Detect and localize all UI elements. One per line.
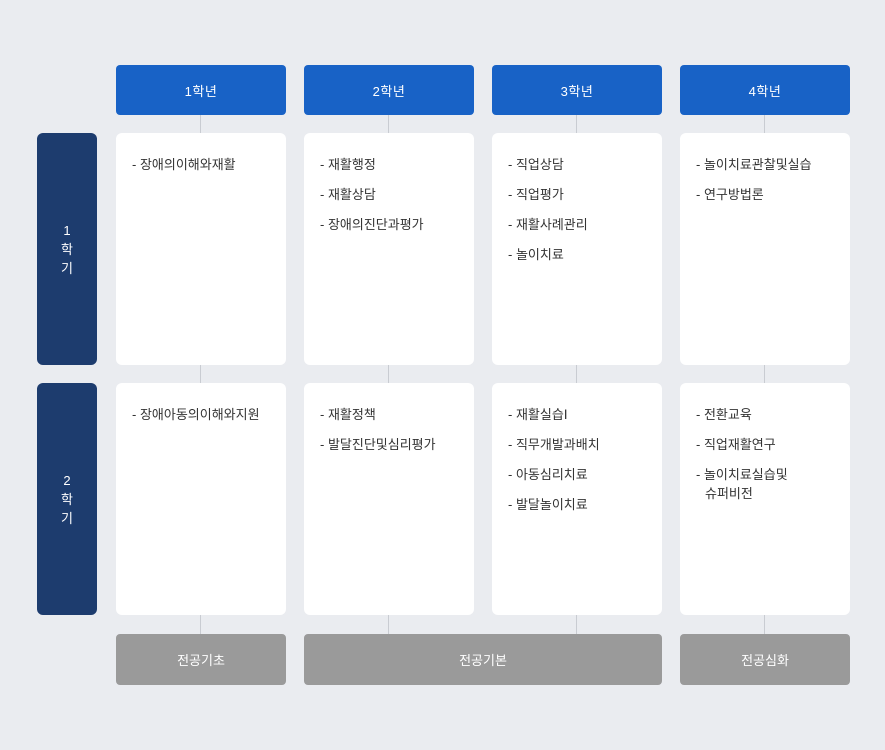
course-item: - 발달진단및심리평가 <box>320 435 458 454</box>
course-card-year3-sem1: - 직업상담 - 직업평가 - 재활사례관리 - 놀이치료 <box>492 133 662 365</box>
course-item: - 재활사례관리 <box>508 215 646 234</box>
course-item: - 직업재활연구 <box>696 435 834 454</box>
curriculum-diagram: 1학년 2학년 3학년 4학년 1 학 기 2 학 기 - 장애의이해와재활 -… <box>0 0 885 750</box>
course-item: - 전환교육 <box>696 405 834 424</box>
course-item: - 장애의이해와재활 <box>132 155 270 174</box>
connector-year2-bottom <box>388 615 389 634</box>
connector-year2-mid <box>388 365 389 383</box>
course-item: - 놀이치료 <box>508 245 646 264</box>
course-item: - 직무개발과배치 <box>508 435 646 454</box>
connector-year3-top <box>576 115 577 133</box>
course-item: - 직업평가 <box>508 185 646 204</box>
course-item: - 발달놀이치료 <box>508 495 646 514</box>
footer-bar-major-basic: 전공기초 <box>116 634 286 685</box>
footer-bar-major-core: 전공기본 <box>304 634 662 685</box>
connector-year4-bottom <box>764 615 765 634</box>
semester-label-2-line2: 학 <box>61 490 73 509</box>
year-header-4-label: 4학년 <box>749 81 782 100</box>
year-header-3[interactable]: 3학년 <box>492 65 662 115</box>
course-item: - 재활행정 <box>320 155 458 174</box>
connector-year1-top <box>200 115 201 133</box>
year-header-4[interactable]: 4학년 <box>680 65 850 115</box>
course-card-year1-sem1: - 장애의이해와재활 <box>116 133 286 365</box>
semester-label-2-line3: 기 <box>61 509 73 528</box>
course-card-year4-sem1: - 놀이치료관찰및실습 - 연구방법론 <box>680 133 850 365</box>
course-card-year1-sem2: - 장애아동의이해와지원 <box>116 383 286 615</box>
semester-label-2: 2 학 기 <box>37 383 97 615</box>
year-header-1[interactable]: 1학년 <box>116 65 286 115</box>
course-item: - 장애아동의이해와지원 <box>132 405 270 424</box>
course-item: - 놀이치료실습및 슈퍼비전 <box>696 465 834 503</box>
year-header-3-label: 3학년 <box>561 81 594 100</box>
connector-year2-top <box>388 115 389 133</box>
connector-year3-bottom <box>576 615 577 634</box>
course-item: - 직업상담 <box>508 155 646 174</box>
semester-label-1-line1: 1 <box>63 221 70 240</box>
connector-year1-bottom <box>200 615 201 634</box>
course-item: - 연구방법론 <box>696 185 834 204</box>
footer-bar-major-advanced: 전공심화 <box>680 634 850 685</box>
connector-year4-top <box>764 115 765 133</box>
course-item: - 재활실습Ⅰ <box>508 405 646 424</box>
footer-bar-2-label: 전공기본 <box>459 650 507 669</box>
course-card-year4-sem2: - 전환교육 - 직업재활연구 - 놀이치료실습및 슈퍼비전 <box>680 383 850 615</box>
course-item: - 놀이치료관찰및실습 <box>696 155 834 174</box>
semester-label-1-line2: 학 <box>61 240 73 259</box>
footer-bar-1-label: 전공기초 <box>177 650 225 669</box>
connector-year1-mid <box>200 365 201 383</box>
connector-year3-mid <box>576 365 577 383</box>
course-card-year2-sem1: - 재활행정 - 재활상담 - 장애의진단과평가 <box>304 133 474 365</box>
year-header-1-label: 1학년 <box>185 81 218 100</box>
semester-label-1: 1 학 기 <box>37 133 97 365</box>
year-header-2[interactable]: 2학년 <box>304 65 474 115</box>
course-item: - 아동심리치료 <box>508 465 646 484</box>
year-header-2-label: 2학년 <box>373 81 406 100</box>
course-item: - 장애의진단과평가 <box>320 215 458 234</box>
course-card-year2-sem2: - 재활정책 - 발달진단및심리평가 <box>304 383 474 615</box>
connector-year4-mid <box>764 365 765 383</box>
course-card-year3-sem2: - 재활실습Ⅰ - 직무개발과배치 - 아동심리치료 - 발달놀이치료 <box>492 383 662 615</box>
semester-label-1-line3: 기 <box>61 259 73 278</box>
footer-bar-3-label: 전공심화 <box>741 650 789 669</box>
semester-label-2-line1: 2 <box>63 471 70 490</box>
course-item: - 재활상담 <box>320 185 458 204</box>
course-item: - 재활정책 <box>320 405 458 424</box>
